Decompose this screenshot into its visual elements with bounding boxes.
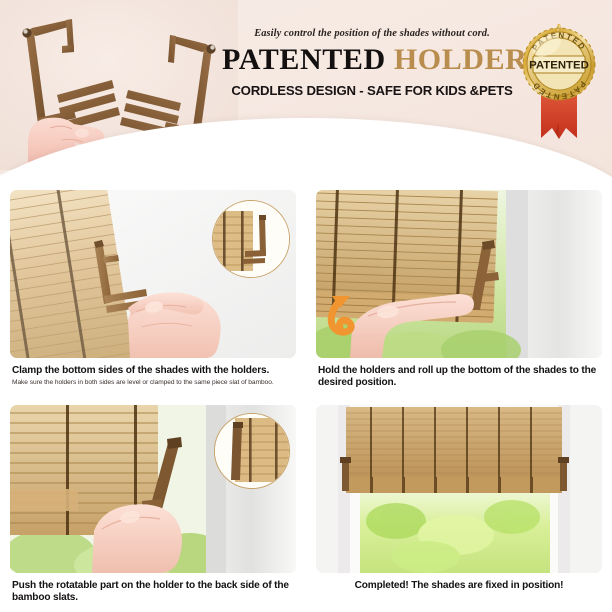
title-word-patented: PATENTED	[222, 43, 386, 76]
step-1-caption: Clamp the bottom sides of the shades wit…	[12, 365, 294, 377]
step-1-caption-block: Clamp the bottom sides of the shades wit…	[10, 358, 296, 387]
step-2-caption-block: Hold the holders and roll up the bottom …	[316, 358, 602, 390]
step-panel-1: back Clamp the bottom sides of the shade…	[0, 182, 306, 397]
step-3-photo: back	[10, 405, 296, 573]
step-panel-3: back Push the rotatable part on the hold…	[0, 397, 306, 612]
step-4-caption: Completed! The shades are fixed in posit…	[318, 580, 600, 592]
infographic-page: Easily control the position of the shade…	[0, 0, 612, 612]
step-3-inset-circle: back	[214, 413, 290, 489]
header-tagline: Easily control the position of the shade…	[222, 28, 522, 39]
patented-badge: PATENTED PATENTED PATENTED	[516, 18, 602, 144]
step-2-photo	[316, 190, 602, 358]
step-2-caption: Hold the holders and roll up the bottom …	[318, 365, 600, 390]
header-banner: Easily control the position of the shade…	[0, 0, 612, 182]
badge-seal: PATENTED PATENTED PATENTED	[523, 24, 595, 101]
page-title: PATENTED HOLDERS	[222, 44, 522, 76]
badge-center-text: PATENTED	[529, 60, 589, 72]
step-4-caption-block: Completed! The shades are fixed in posit…	[316, 573, 602, 592]
steps-grid: back Clamp the bottom sides of the shade…	[0, 182, 612, 612]
step-1-subcaption: Make sure the holders in both sides are …	[12, 379, 294, 387]
step-3-caption: Push the rotatable part on the holder to…	[12, 580, 294, 605]
step-panel-4: Completed! The shades are fixed in posit…	[306, 397, 612, 612]
bamboo-shade	[346, 407, 562, 493]
step-3-caption-block: Push the rotatable part on the holder to…	[10, 573, 296, 605]
header-subtitle: CORDLESS DESIGN - SAFE FOR KIDS &PETS	[222, 83, 522, 98]
step-4-photo	[316, 405, 602, 573]
header-text-block: Easily control the position of the shade…	[222, 28, 522, 98]
step-panel-2: Hold the holders and roll up the bottom …	[306, 182, 612, 397]
step-1-inset-circle: back	[212, 200, 290, 278]
step-1-photo: back	[10, 190, 296, 358]
